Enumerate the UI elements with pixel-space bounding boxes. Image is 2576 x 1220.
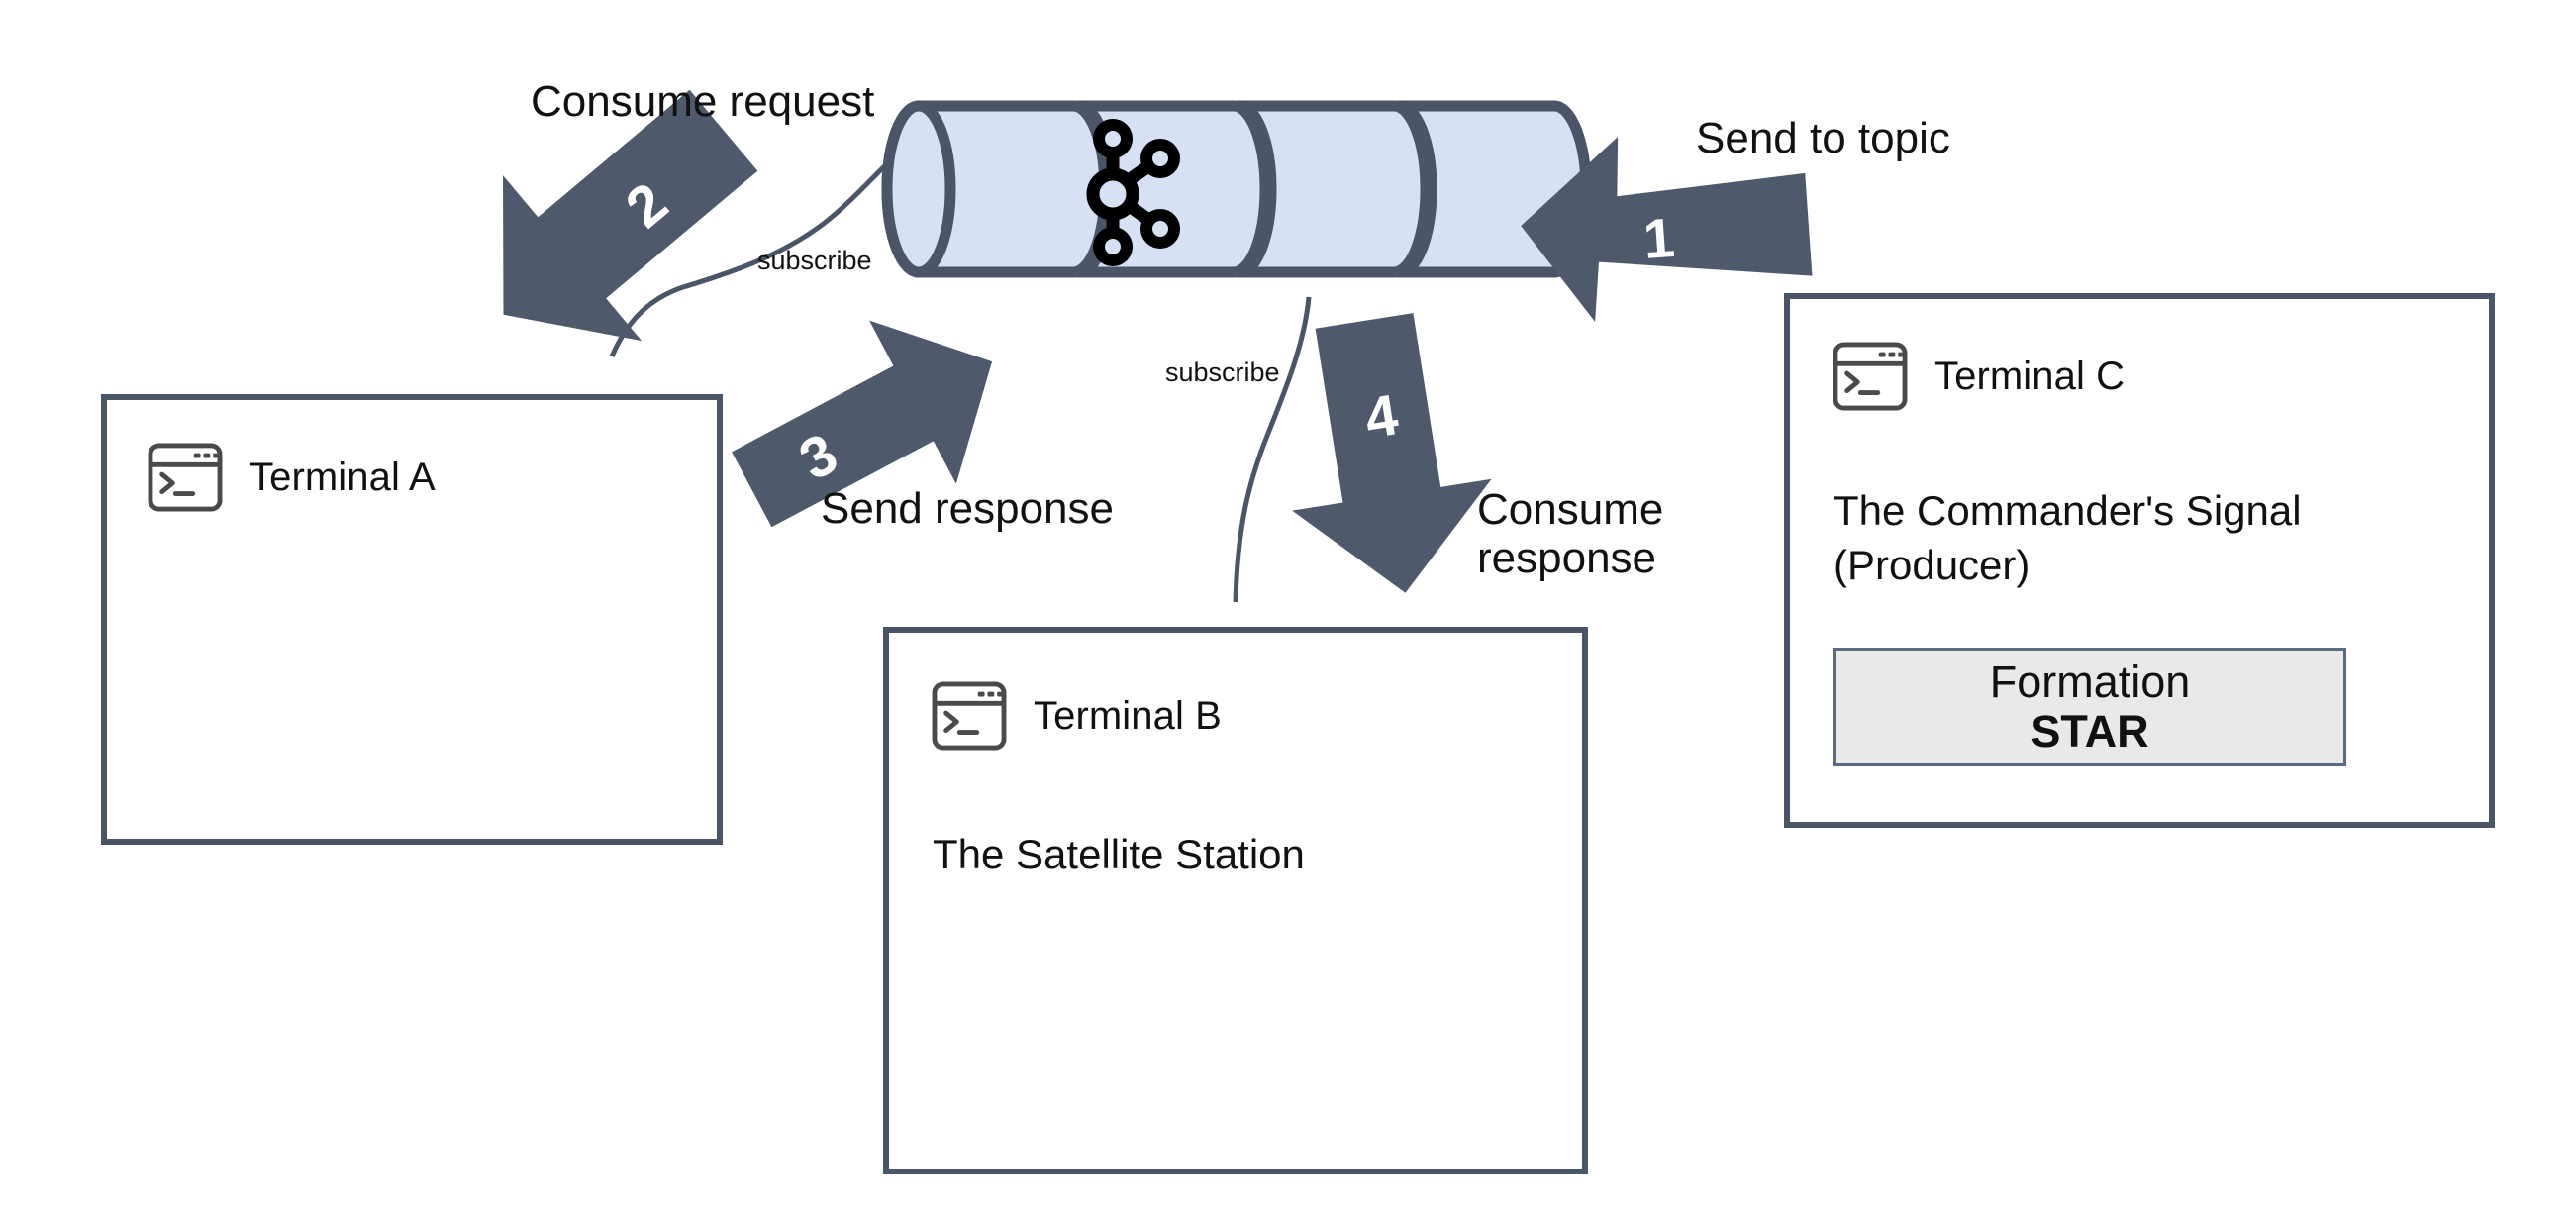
- panel-terminal-b-title: Terminal B: [1034, 694, 1222, 739]
- panel-terminal-c-header: Terminal C: [1832, 341, 2125, 412]
- formation-label: Formation: [1990, 658, 2191, 707]
- subscribe-left-label: subscribe: [757, 246, 872, 276]
- subscribe-right-label: subscribe: [1165, 357, 1280, 388]
- panel-terminal-b[interactable]: Terminal B The Satellite Station: [883, 627, 1588, 1174]
- kafka-cluster-cylinders: [887, 106, 1586, 272]
- panel-terminal-c[interactable]: Terminal C The Commander's Signal (Produ…: [1784, 293, 2495, 828]
- step-3-label: Send response: [821, 484, 1114, 533]
- terminal-icon: [931, 680, 1008, 752]
- panel-terminal-b-subtitle: The Satellite Station: [933, 827, 1305, 881]
- cylinder-1: [887, 106, 1105, 272]
- panel-terminal-a[interactable]: Terminal A: [101, 394, 723, 845]
- terminal-icon: [147, 442, 224, 513]
- panel-terminal-c-subtitle: The Commander's Signal (Producer): [1833, 483, 2302, 593]
- panel-terminal-a-title: Terminal A: [249, 456, 436, 500]
- step-2-label: Consume request: [531, 77, 874, 126]
- step-1-number: 1: [1641, 206, 1676, 270]
- terminal-icon: [1832, 341, 1909, 412]
- panel-terminal-a-header: Terminal A: [147, 442, 436, 513]
- panel-terminal-b-header: Terminal B: [931, 680, 1222, 752]
- formation-status-badge: Formation STAR: [1833, 648, 2346, 766]
- subscribe-right-connector: [1236, 297, 1309, 602]
- panel-terminal-c-title: Terminal C: [1934, 355, 2125, 399]
- step-4-label: Consume response: [1477, 485, 1715, 583]
- diagram-canvas: 1 2 3 4: [0, 0, 2576, 1220]
- step-1-label: Send to topic: [1696, 114, 1950, 162]
- step-4-arrow: 4: [1264, 305, 1507, 608]
- formation-value: STAR: [2031, 707, 2148, 757]
